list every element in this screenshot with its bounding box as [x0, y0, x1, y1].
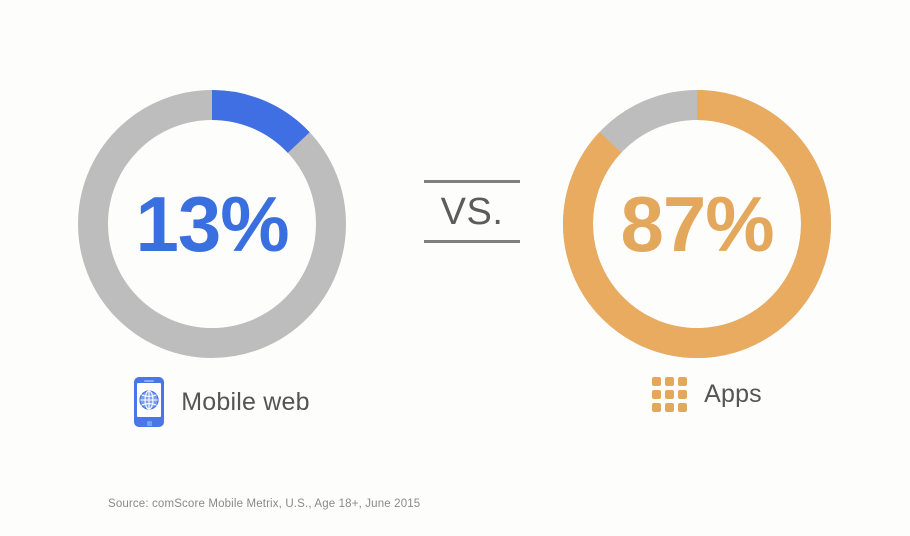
- donut-panel-apps: 87% Apps: [557, 0, 857, 536]
- donut-value-mobile-web: 13%: [78, 90, 346, 358]
- versus-separator: VS.: [424, 180, 520, 243]
- legend-apps: Apps: [557, 377, 857, 412]
- infographic-slide: 13%: [0, 0, 910, 536]
- phone-screen: [137, 383, 161, 417]
- versus-rule-bottom: [424, 240, 520, 243]
- phone-speaker-slit: [144, 380, 154, 382]
- source-note: Source: comScore Mobile Metrix, U.S., Ag…: [108, 498, 420, 510]
- versus-label: VS.: [424, 183, 520, 240]
- phone-home-button: [147, 421, 152, 426]
- apps-grid-icon: [652, 377, 687, 412]
- legend-mobile-web: Mobile web: [72, 377, 372, 427]
- donut-panel-mobile-web: 13%: [72, 0, 372, 536]
- legend-label-mobile-web: Mobile web: [181, 388, 309, 417]
- donut-value-apps: 87%: [563, 90, 831, 358]
- legend-label-apps: Apps: [704, 380, 762, 409]
- mobile-phone-globe-icon: [134, 377, 164, 427]
